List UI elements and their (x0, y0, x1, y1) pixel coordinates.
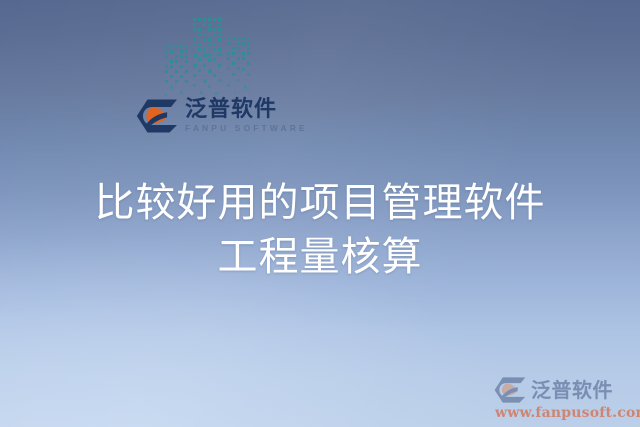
watermark-name-cn: 泛普软件 (531, 380, 613, 400)
watermark-url: www.fanpusoft.com (495, 406, 634, 420)
watermark-logo-row: 泛普软件 (494, 377, 634, 403)
fanpu-logo-mark-icon (136, 99, 178, 133)
page-title-line-1: 比较好用的项目管理软件 (0, 176, 640, 230)
promo-banner: 泛普软件 FANPU SOFTWARE 比较好用的项目管理软件 工程量核算 泛普… (0, 0, 640, 427)
page-title-line-2: 工程量核算 (0, 230, 640, 284)
page-title: 比较好用的项目管理软件 工程量核算 (0, 176, 640, 284)
watermark: 泛普软件 www.fanpusoft.com (494, 377, 634, 420)
brand-wordmark: 泛普软件 FANPU SOFTWARE (185, 99, 308, 133)
fanpu-logo-mark-icon (494, 377, 526, 403)
pixel-skyline-icon (160, 12, 260, 102)
brand-logo: 泛普软件 FANPU SOFTWARE (136, 96, 308, 136)
brand-name-en: FANPU SOFTWARE (185, 124, 308, 133)
brand-name-cn: 泛普软件 (185, 99, 308, 121)
